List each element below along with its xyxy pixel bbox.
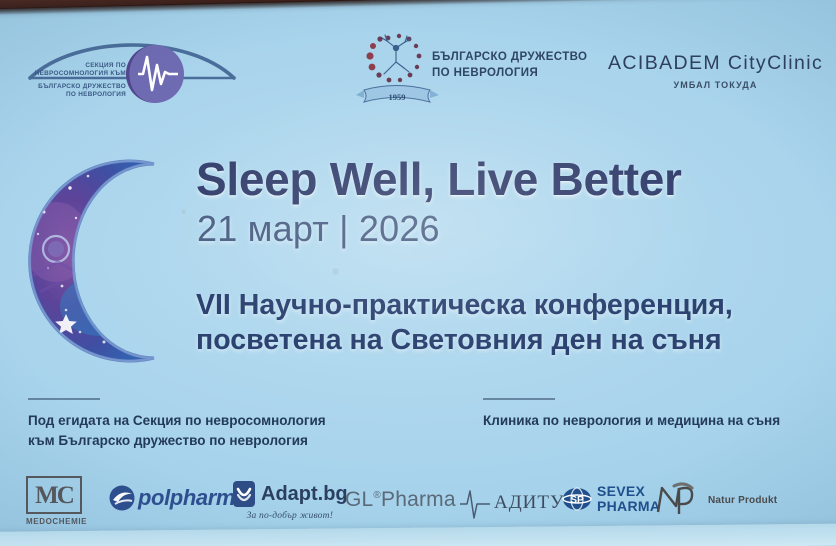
aditus-ecg-icon bbox=[458, 486, 492, 520]
acibadem-subbrand: CityClinic bbox=[728, 52, 823, 74]
acibadem-wordmark: ACIBADEM CityClinic bbox=[608, 52, 823, 75]
natur-produkt-monogram-icon bbox=[652, 480, 708, 520]
neurosomnology-line1: СЕКЦИЯ ПО bbox=[85, 62, 126, 69]
natur-produkt-label: Natur Produkt bbox=[708, 495, 777, 506]
event-date: 21 март | 2026 bbox=[197, 208, 817, 250]
sponsor-natur-produkt: Natur Produkt bbox=[652, 480, 777, 520]
bdn-logo-text: БЪЛГАРСКО ДРУЖЕСТВО ПО НЕВРОЛОГИЯ bbox=[432, 50, 587, 82]
gl-pharma-label-a: GL bbox=[345, 488, 373, 511]
ceiling-edge-artifact bbox=[0, 0, 836, 10]
adapt-shield-icon bbox=[232, 480, 256, 508]
acibadem-cityclinic-logo: ACIBADEM CityClinic УМБАЛ ТОКУДА bbox=[608, 52, 823, 102]
credit-organizer-line-1: Под егидата на Секция по невросомнология bbox=[28, 411, 326, 431]
neurosomnology-line2: НЕВРОСОМНОЛОГИЯ КЪМ bbox=[35, 70, 126, 77]
sponsor-adapt-bg: Adapt.bg За по-добър живот! bbox=[232, 480, 348, 521]
subtitle-line-2: посветена на Световния ден на съня bbox=[196, 323, 832, 358]
neurosomnology-eye-logo: СЕКЦИЯ ПО НЕВРОСОМНОЛОГИЯ КЪМ БЪЛГАРСКО … bbox=[22, 30, 272, 116]
acibadem-hospital-name: УМБАЛ ТОКУДА bbox=[608, 80, 823, 90]
medochemie-mark: MC bbox=[26, 476, 82, 514]
sevex-label-a: SEVEX bbox=[597, 484, 660, 499]
conference-slide: СЕКЦИЯ ПО НЕВРОСОМНОЛОГИЯ КЪМ БЪЛГАРСКО … bbox=[0, 0, 836, 546]
credit-divider-left bbox=[28, 398, 100, 400]
adapt-logo-row: Adapt.bg bbox=[232, 480, 348, 508]
medochemie-label: MEDOCHEMIE bbox=[26, 517, 87, 526]
subtitle-line-1: VII Научно-практическа конференция, bbox=[196, 288, 832, 323]
bdn-ribbon-year: 1959 bbox=[389, 92, 406, 102]
header-logo-row: СЕКЦИЯ ПО НЕВРОСОМНОЛОГИЯ КЪМ БЪЛГАРСКО … bbox=[0, 26, 836, 118]
sponsor-gl-pharma: GL®Pharma bbox=[345, 488, 456, 512]
credit-clinic: Клиника по неврология и медицина на съня bbox=[483, 398, 780, 431]
sevex-globe-icon: SP bbox=[562, 484, 592, 514]
adapt-label: Adapt.bg bbox=[261, 483, 348, 506]
gl-pharma-reg: ® bbox=[373, 490, 381, 501]
page-title: Sleep Well, Live Better bbox=[196, 152, 816, 206]
acibadem-brand: ACIBADEM bbox=[608, 52, 721, 74]
sponsor-sevex-pharma: SP SEVEX PHARMA bbox=[562, 484, 660, 514]
gl-pharma-label-b: Pharma bbox=[381, 488, 456, 511]
sevex-mark: SP bbox=[570, 495, 584, 506]
sponsor-polpharma: polpharma bbox=[108, 484, 247, 512]
event-subtitle: VII Научно-практическа конференция, посв… bbox=[196, 288, 832, 358]
bdn-line2: ПО НЕВРОЛОГИЯ bbox=[432, 66, 587, 82]
neurosomnology-line4: ПО НЕВРОЛОГИЯ bbox=[66, 91, 126, 98]
credit-organizer: Под егидата на Секция по невросомнология… bbox=[28, 398, 326, 452]
bulgarian-neurology-society-logo: 1959 БЪЛГАРСКО ДРУЖЕСТВО ПО НЕВРОЛОГИЯ bbox=[352, 28, 542, 112]
sponsor-aditus: АДИТУС bbox=[458, 486, 578, 520]
credit-divider-right bbox=[483, 398, 555, 400]
credit-organizer-line-2: към Българско дружество по неврология bbox=[28, 431, 326, 451]
sevex-label-b: PHARMA bbox=[597, 499, 660, 514]
polpharma-label: polpharma bbox=[138, 485, 247, 511]
sponsor-medochemie: MC MEDOCHEMIE bbox=[26, 476, 87, 526]
gl-pharma-label: GL®Pharma bbox=[345, 488, 456, 512]
neurosomnology-line3: БЪЛГАРСКО ДРУЖЕСТВО bbox=[38, 83, 126, 90]
polpharma-swoosh-icon bbox=[108, 484, 138, 512]
adapt-tagline: За по-добър живот! bbox=[247, 511, 333, 521]
sevex-label: SEVEX PHARMA bbox=[597, 484, 660, 513]
credit-clinic-line-1: Клиника по неврология и медицина на съня bbox=[483, 411, 780, 431]
crescent-moon-illustration bbox=[4, 146, 204, 376]
bdn-line1: БЪЛГАРСКО ДРУЖЕСТВО bbox=[432, 50, 587, 66]
